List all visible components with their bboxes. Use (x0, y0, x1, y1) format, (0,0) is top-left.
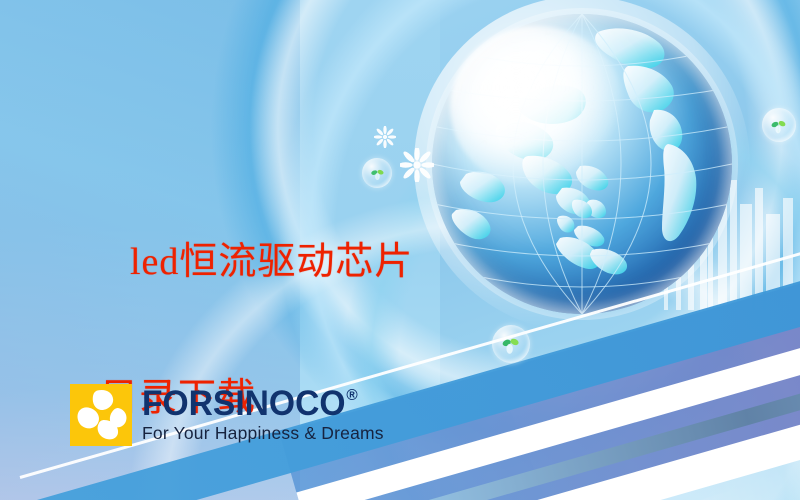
brand-logo-text: FORSINOCO ® For Your Happiness & Dreams (142, 384, 384, 443)
forsinoco-petal-mark-icon (70, 384, 132, 446)
bubble-sprout-right-icon (762, 108, 796, 142)
daisy-flower-small-icon (374, 126, 396, 153)
brand-name: FORSINOCO (142, 386, 345, 422)
brand-tagline: For Your Happiness & Dreams (142, 423, 384, 443)
page-title: led恒流驱动芯片 目录下载 (88, 160, 413, 500)
banner-canvas: led恒流驱动芯片 目录下载 FORSINOCO ® For Your Happ… (0, 0, 800, 500)
registered-trademark-icon: ® (346, 388, 357, 404)
brand-name-wrap: FORSINOCO ® (142, 386, 374, 422)
brand-logo[interactable]: FORSINOCO ® For Your Happiness & Dreams (70, 384, 384, 446)
headline-line-1: led恒流驱动芯片 (130, 241, 413, 283)
bubble-sprout-lower-icon (492, 325, 530, 363)
